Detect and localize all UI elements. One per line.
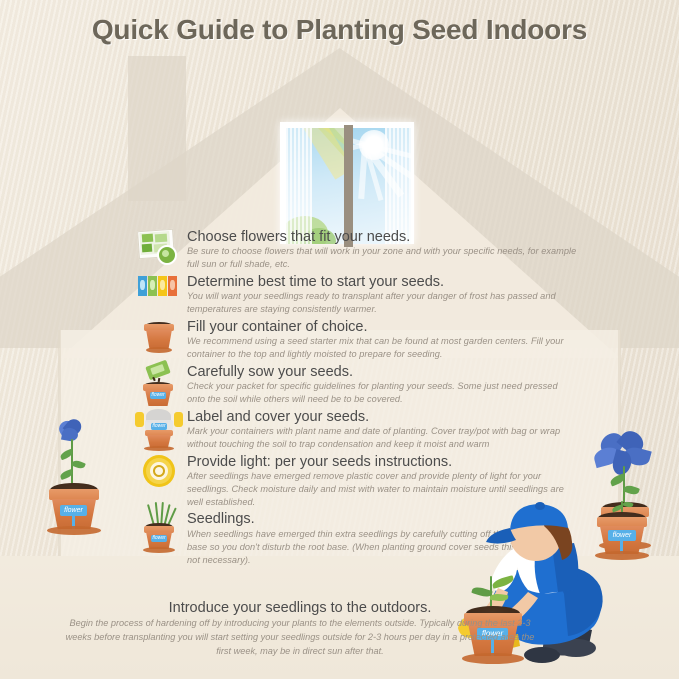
empty-pot-with-soil-icon [135, 318, 183, 362]
conclusion-description: Begin the process of hardening off by in… [60, 617, 540, 659]
potted-blue-flower-icon: flower [42, 415, 118, 555]
seedlings-in-pot-icon: flower [135, 510, 183, 562]
step-description: You will want your seedlings ready to tr… [187, 290, 587, 316]
sheer-curtain [385, 128, 411, 244]
seed-catalog-icon [135, 228, 183, 272]
step-heading: Provide light: per your seeds instructio… [187, 454, 582, 470]
step-heading: Carefully sow your seeds. [187, 364, 577, 380]
step-item: flower Label and cover your seeds. Mark … [135, 408, 585, 452]
step-heading: Choose flowers that fit your needs. [187, 229, 577, 245]
step-text: Determine best time to start your seeds.… [183, 273, 587, 316]
step-item: Fill your container of choice. We recomm… [135, 318, 585, 362]
window-pane-left [286, 128, 344, 244]
step-heading: Label and cover your seeds. [187, 409, 577, 425]
conclusion-block: Introduce your seedlings to the outdoors… [60, 600, 540, 659]
seed-packet-pouring-icon: flower [135, 363, 183, 407]
infographic-poster: Quick Guide to Planting Seed Indoors [0, 0, 679, 679]
sheer-curtain [286, 128, 312, 244]
step-text: Carefully sow your seeds. Check your pac… [183, 363, 577, 406]
step-text: Choose flowers that fit your needs. Be s… [183, 228, 577, 271]
step-description: Be sure to choose flowers that will work… [187, 245, 577, 271]
four-seasons-calendar-icon [135, 273, 183, 317]
step-description: Mark your containers with plant name and… [187, 425, 577, 451]
window-pane-right [353, 128, 411, 244]
step-description: Check your packet for specific guideline… [187, 380, 577, 406]
step-heading: Fill your container of choice. [187, 319, 592, 335]
step-item: Determine best time to start your seeds.… [135, 273, 585, 317]
conclusion-heading: Introduce your seedlings to the outdoors… [60, 600, 540, 616]
window-with-sun-icon [280, 122, 414, 244]
step-item: Choose flowers that fit your needs. Be s… [135, 228, 585, 272]
step-heading: Determine best time to start your seeds. [187, 274, 587, 290]
step-item: flower Carefully sow your seeds. Check y… [135, 363, 585, 407]
step-text: Fill your container of choice. We recomm… [183, 318, 592, 361]
step-text: Label and cover your seeds. Mark your co… [183, 408, 577, 451]
page-title: Quick Guide to Planting Seed Indoors [0, 14, 679, 46]
gloves-covering-pot-icon: flower [135, 408, 183, 452]
step-description: We recommend using a seed starter mix th… [187, 335, 592, 361]
sun-ring-icon [135, 453, 183, 497]
